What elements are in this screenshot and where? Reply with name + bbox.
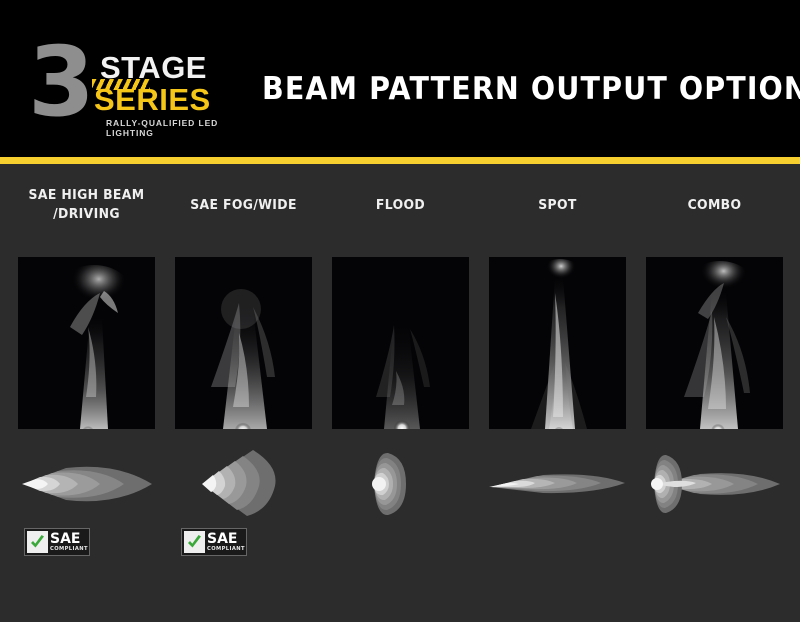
beam-column-combo[interactable]: COMBO — [646, 164, 783, 622]
beam-photo — [18, 257, 155, 429]
beam-column-sae-high-beam-driving[interactable]: SAE HIGH BEAM/DRIVING — [18, 164, 155, 622]
beam-diagram — [483, 444, 632, 524]
beam-photo — [646, 257, 783, 429]
header-divider — [0, 157, 800, 164]
beam-photo-render — [332, 257, 469, 429]
badge-text: SAE COMPLIANT — [207, 532, 245, 552]
badge-subtitle: COMPLIANT — [207, 547, 245, 552]
column-label: FLOOD — [336, 196, 465, 215]
beam-diagram — [326, 444, 475, 524]
column-label: SPOT — [493, 196, 622, 215]
logo-word-series: SERIES — [94, 84, 211, 115]
beam-diagram-wide-cone — [169, 444, 318, 524]
check-icon — [27, 531, 48, 553]
beam-column-flood[interactable]: FLOOD — [332, 164, 469, 622]
badge-title: SAE — [50, 532, 88, 546]
beam-photo-render — [489, 257, 626, 429]
beam-photo-render — [646, 257, 783, 429]
logo-word-stage: STAGE — [100, 52, 207, 83]
beam-diagram-flood-plus-spot — [640, 444, 789, 524]
beam-diagram — [640, 444, 789, 524]
stage-series-logo: 3 STAGE SERIES RALLY-QUALIFIED LED LIGHT… — [28, 34, 248, 132]
page-title: BEAM PATTERN OUTPUT OPTIONS — [262, 72, 800, 106]
beam-photo — [175, 257, 312, 429]
logo-tagline: RALLY-QUALIFIED LED LIGHTING — [106, 118, 248, 138]
badge-subtitle: COMPLIANT — [50, 547, 88, 552]
beam-diagram-narrow-needle — [483, 444, 632, 524]
beam-photo — [489, 257, 626, 429]
beam-photo-render — [175, 257, 312, 429]
logo-numeral: 3 — [28, 34, 91, 130]
beam-pattern-infographic: 3 STAGE SERIES RALLY-QUALIFIED LED LIGHT… — [0, 0, 800, 622]
beam-diagram — [12, 444, 161, 524]
beam-column-spot[interactable]: SPOT — [489, 164, 626, 622]
beam-pattern-columns: SAE HIGH BEAM/DRIVING — [0, 164, 800, 622]
sae-compliant-badge: SAE COMPLIANT — [24, 528, 90, 556]
column-label: COMBO — [650, 196, 779, 215]
badge-title: SAE — [207, 532, 245, 546]
beam-photo — [332, 257, 469, 429]
beam-diagram-round-flood — [326, 444, 475, 524]
badge-text: SAE COMPLIANT — [50, 532, 88, 552]
check-icon — [184, 531, 205, 553]
beam-diagram — [169, 444, 318, 524]
beam-photo-render — [18, 257, 155, 429]
column-label: SAE HIGH BEAM/DRIVING — [22, 186, 151, 224]
beam-diagram-long-teardrop — [12, 444, 161, 524]
header-banner: 3 STAGE SERIES RALLY-QUALIFIED LED LIGHT… — [0, 0, 800, 157]
sae-compliant-badge: SAE COMPLIANT — [181, 528, 247, 556]
beam-column-sae-fog-wide[interactable]: SAE FOG/WIDE — [175, 164, 312, 622]
column-label: SAE FOG/WIDE — [179, 196, 308, 215]
